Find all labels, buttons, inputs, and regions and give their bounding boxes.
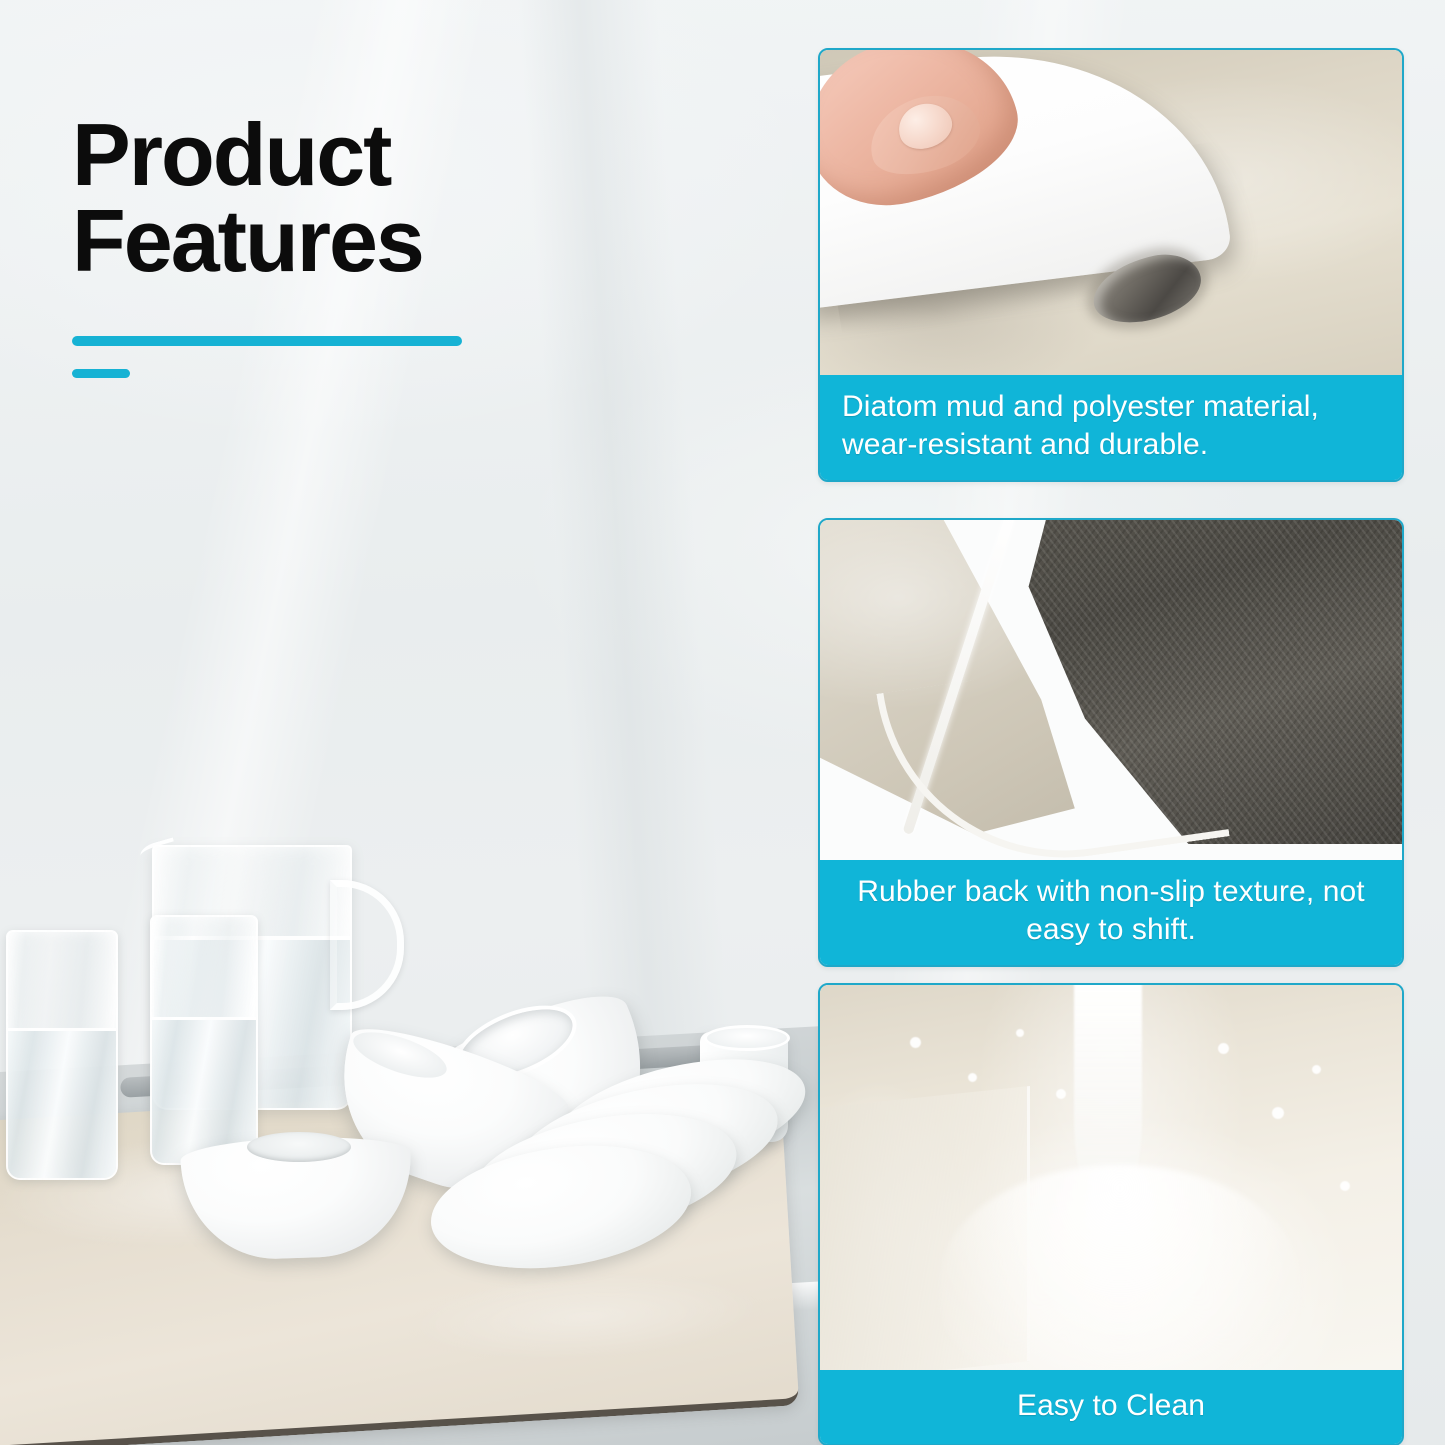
title-underline-long	[72, 336, 462, 346]
water-droplet	[1340, 1181, 1350, 1191]
water-droplet	[1016, 1029, 1024, 1037]
feature-photo-rubber-back	[820, 520, 1402, 860]
feature-caption-material: Diatom mud and polyester material, wear-…	[820, 375, 1402, 480]
page-title-line-1: Product	[72, 112, 712, 198]
title-underline-short	[72, 369, 130, 378]
glass-water	[8, 1028, 116, 1178]
page-title-line-2: Features	[72, 198, 712, 284]
water-droplet	[910, 1037, 921, 1048]
product-features-infographic: Product Features	[0, 0, 1445, 1445]
water-droplet	[1272, 1107, 1284, 1119]
feature-card-easy-clean: Easy to Clean	[818, 983, 1404, 1445]
page-title: Product Features	[72, 112, 712, 378]
water-droplet	[1056, 1089, 1066, 1099]
water-droplet	[1218, 1043, 1229, 1054]
feature-card-material: Diatom mud and polyester material, wear-…	[818, 48, 1404, 482]
feature-caption-rubber-back: Rubber back with non-slip texture, not e…	[820, 860, 1402, 965]
feature-photo-easy-clean	[820, 985, 1402, 1370]
water-droplet	[968, 1073, 977, 1082]
feature-caption-easy-clean: Easy to Clean	[820, 1370, 1402, 1444]
feature-photo-material	[820, 50, 1402, 375]
water-droplet	[1312, 1065, 1321, 1074]
feature-card-rubber-back: Rubber back with non-slip texture, not e…	[818, 518, 1404, 967]
drinking-glass	[150, 915, 258, 1165]
pitcher-handle	[330, 880, 404, 1010]
product-lifestyle-photo	[0, 760, 830, 1445]
ceramic-bowl-foot	[247, 1132, 351, 1162]
drinking-glass	[6, 930, 118, 1180]
